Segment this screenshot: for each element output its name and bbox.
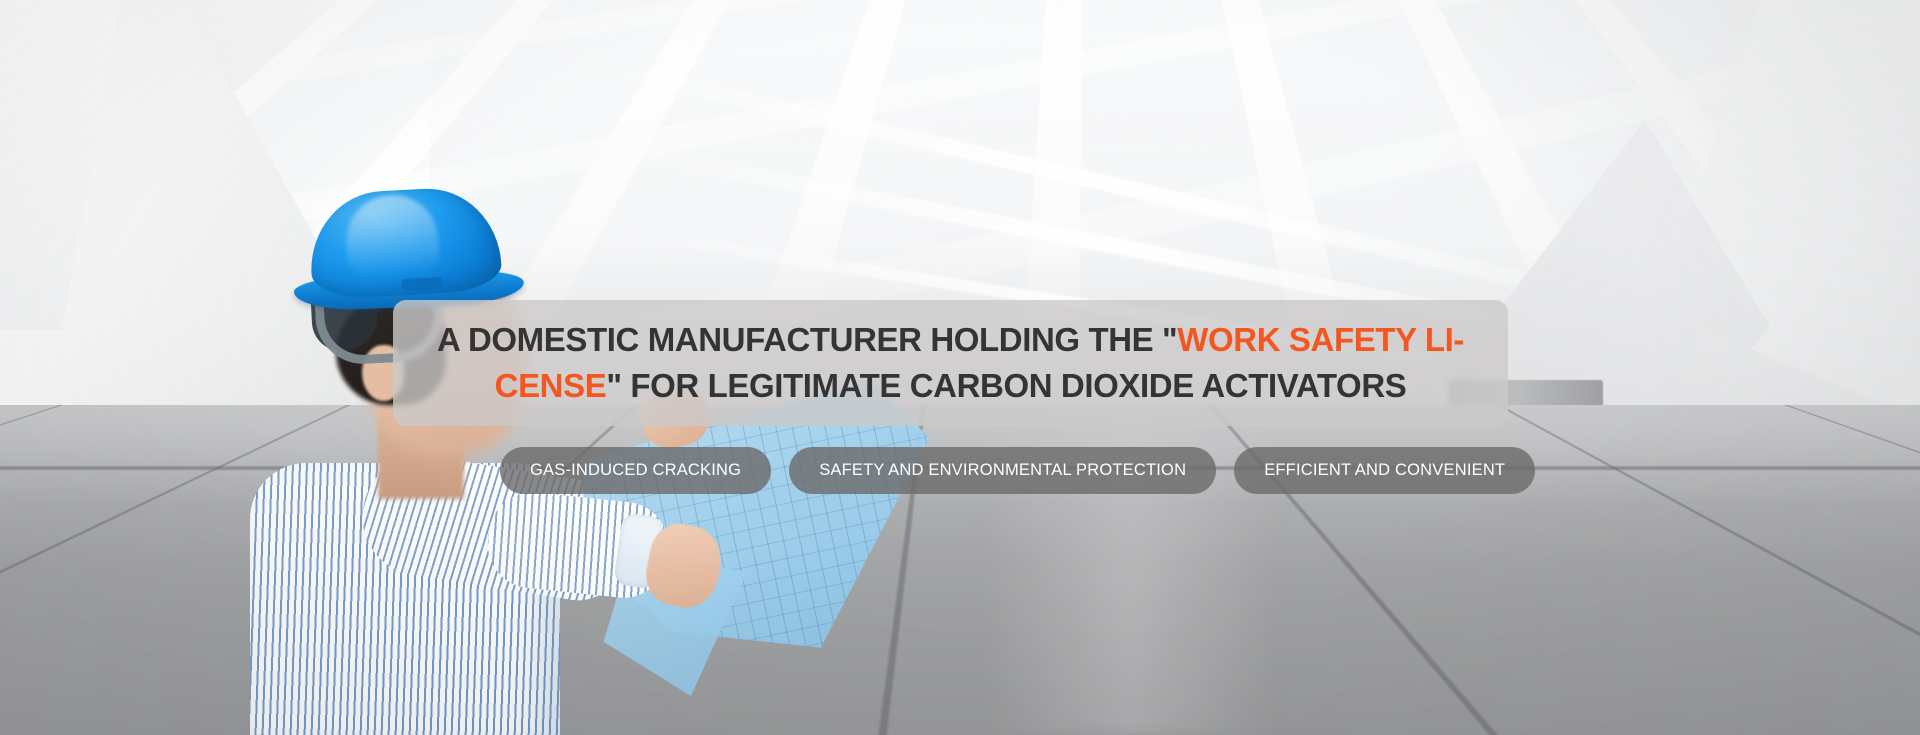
- pill-label: GAS-INDUCED CRACKING: [530, 461, 741, 480]
- pill-gas-induced-cracking[interactable]: GAS-INDUCED CRACKING: [500, 447, 771, 494]
- hero-banner: A DOMESTIC MANUFACTURER HOLDING THE "WOR…: [0, 0, 1920, 735]
- pill-safety-and-environmental-protection[interactable]: SAFETY AND ENVIRONMENTAL PROTECTION: [789, 447, 1216, 494]
- headline-highlight-2: CENSE: [495, 367, 607, 404]
- pill-label: SAFETY AND ENVIRONMENTAL PROTECTION: [819, 461, 1186, 480]
- helmet-vent-slot: [402, 277, 443, 291]
- headline-part-1: A DOMESTIC MANUFACTURER HOLDING THE ": [437, 321, 1177, 358]
- headline-panel: A DOMESTIC MANUFACTURER HOLDING THE "WOR…: [393, 300, 1508, 426]
- headline-highlight-1: WORK SAFETY LI-: [1177, 321, 1464, 358]
- pill-efficient-and-convenient[interactable]: EFFICIENT AND CONVENIENT: [1234, 447, 1535, 494]
- headline-part-2: " FOR LEGITIMATE CARBON DIOXIDE ACTIVATO…: [606, 367, 1406, 404]
- page-title: A DOMESTIC MANUFACTURER HOLDING THE "WOR…: [393, 317, 1508, 409]
- pill-label: EFFICIENT AND CONVENIENT: [1264, 461, 1505, 480]
- feature-pill-row: GAS-INDUCED CRACKING SAFETY AND ENVIRONM…: [500, 447, 1535, 494]
